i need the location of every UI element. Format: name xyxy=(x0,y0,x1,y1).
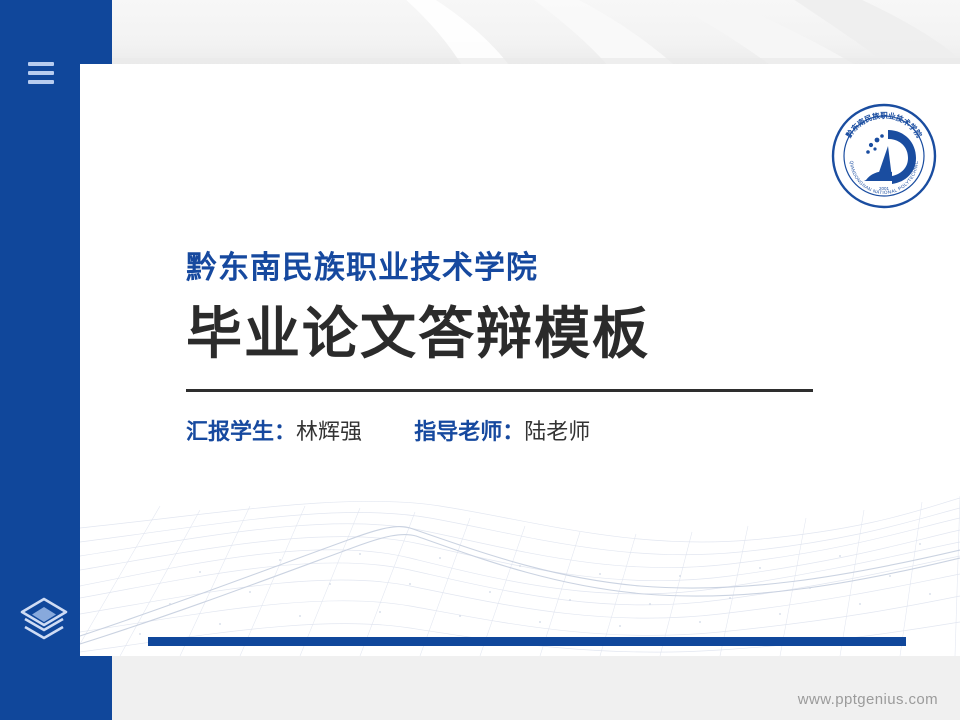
svg-text:2001: 2001 xyxy=(879,186,890,191)
presenter-label: 汇报学生： xyxy=(186,419,296,444)
top-decorative-band xyxy=(0,0,960,66)
wireframe-mesh-decoration xyxy=(80,466,960,656)
hamburger-bar xyxy=(28,62,54,66)
presentation-slide: 黔东南民族职业技术学院 QIANDONGNAN NATIONAL POLYTEC… xyxy=(80,64,960,656)
hamburger-bar xyxy=(28,71,54,75)
page-title: 毕业论文答辩模板 xyxy=(186,302,886,366)
swoosh-curves-icon xyxy=(0,0,960,66)
layers-stack-icon[interactable] xyxy=(18,594,70,644)
title-block: 黔东南民族职业技术学院 毕业论文答辩模板 汇报学生：林辉强 指导老师：陆老师 xyxy=(186,249,886,446)
title-divider xyxy=(186,389,813,392)
hamburger-bar xyxy=(28,80,54,84)
hamburger-menu-icon[interactable] xyxy=(28,62,54,84)
slide-bottom-blue-bar xyxy=(148,637,906,646)
school-name: 黔东南民族职业技术学院 xyxy=(186,249,886,286)
credits-line: 汇报学生：林辉强 指导老师：陆老师 xyxy=(186,418,886,447)
university-seal-logo: 黔东南民族职业技术学院 QIANDONGNAN NATIONAL POLYTEC… xyxy=(830,102,938,210)
slide-viewer: 黔东南民族职业技术学院 QIANDONGNAN NATIONAL POLYTEC… xyxy=(0,0,960,720)
advisor-label: 指导老师： xyxy=(414,419,524,444)
footer-website: www.pptgenius.com xyxy=(798,691,938,708)
advisor-name: 陆老师 xyxy=(524,419,590,444)
presenter-name: 林辉强 xyxy=(296,419,362,444)
